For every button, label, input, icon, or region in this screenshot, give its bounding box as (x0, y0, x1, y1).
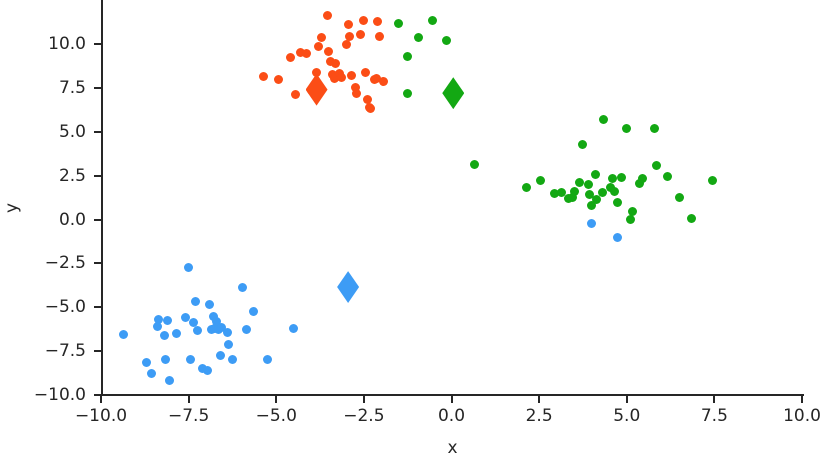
data-point-cluster_blue (161, 355, 170, 364)
centroid-marker-cluster_orange (306, 74, 328, 106)
y-tick-label: 5.0 (0, 122, 86, 142)
data-point-cluster_green (599, 115, 608, 124)
data-point-cluster_green (663, 172, 672, 181)
data-point-cluster_green (536, 176, 545, 185)
y-tick-label: −10.0 (0, 385, 86, 405)
data-point-cluster_blue (165, 376, 174, 385)
x-tick-label: 2.5 (499, 406, 579, 426)
x-tick-mark (713, 396, 715, 403)
data-point-cluster_blue (147, 369, 156, 378)
data-point-cluster_blue (242, 325, 251, 334)
data-point-cluster_green (628, 207, 637, 216)
y-axis-spine (101, 0, 103, 396)
data-point-cluster_orange (356, 30, 365, 39)
data-point-cluster_green (687, 214, 696, 223)
data-point-cluster_blue (587, 219, 596, 228)
data-point-cluster_green (622, 124, 631, 133)
data-point-cluster_blue (263, 355, 272, 364)
y-tick-mark (94, 131, 101, 133)
data-point-cluster_orange (359, 16, 368, 25)
data-point-cluster_blue (249, 307, 258, 316)
data-point-cluster_orange (331, 59, 340, 68)
data-point-cluster_green (617, 173, 626, 182)
data-point-cluster_blue (289, 324, 298, 333)
data-point-cluster_orange (302, 49, 311, 58)
data-point-cluster_orange (379, 77, 388, 86)
x-tick-mark (626, 396, 628, 403)
data-point-cluster_green (442, 36, 451, 45)
data-point-cluster_blue (119, 330, 128, 339)
data-point-cluster_orange (323, 11, 332, 20)
y-tick-mark (94, 43, 101, 45)
x-tick-mark (100, 396, 102, 403)
data-point-cluster_orange (352, 89, 361, 98)
data-point-cluster_blue (160, 331, 169, 340)
x-tick-mark (451, 396, 453, 403)
data-point-cluster_blue (238, 283, 247, 292)
data-point-cluster_orange (347, 71, 356, 80)
x-tick-label: −5.0 (236, 406, 316, 426)
data-point-cluster_blue (191, 297, 200, 306)
data-point-cluster_green (522, 183, 531, 192)
data-point-cluster_orange (314, 42, 323, 51)
x-tick-mark (275, 396, 277, 403)
x-tick-label: −2.5 (324, 406, 404, 426)
data-point-cluster_orange (345, 32, 354, 41)
data-point-cluster_green (575, 178, 584, 187)
y-tick-mark (94, 350, 101, 352)
y-tick-label: −5.0 (0, 297, 86, 317)
y-tick-label: −2.5 (0, 253, 86, 273)
x-tick-label: −7.5 (149, 406, 229, 426)
x-tick-mark (538, 396, 540, 403)
y-tick-mark (94, 175, 101, 177)
data-point-cluster_blue (181, 313, 190, 322)
data-point-cluster_blue (203, 366, 212, 375)
x-tick-label: 7.5 (674, 406, 754, 426)
data-point-cluster_green (578, 140, 587, 149)
data-point-cluster_green (591, 170, 600, 179)
x-axis-label: x (0, 438, 828, 458)
data-point-cluster_green (638, 174, 647, 183)
data-point-cluster_blue (186, 355, 195, 364)
data-point-cluster_blue (184, 263, 193, 272)
data-point-cluster_blue (154, 315, 163, 324)
data-point-cluster_green (414, 33, 423, 42)
x-tick-label: 0.0 (412, 406, 492, 426)
y-tick-mark (94, 262, 101, 264)
y-tick-label: 2.5 (0, 166, 86, 186)
data-point-cluster_orange (344, 20, 353, 29)
data-point-cluster_orange (373, 17, 382, 26)
data-point-cluster_orange (361, 68, 370, 77)
data-point-cluster_blue (142, 358, 151, 367)
x-axis-spine (101, 394, 804, 396)
data-point-cluster_orange (291, 90, 300, 99)
data-point-cluster_orange (337, 73, 346, 82)
y-tick-label: −7.5 (0, 341, 86, 361)
x-tick-mark (363, 396, 365, 403)
data-point-cluster_orange (324, 47, 333, 56)
scatter-plot-figure: −10.0−7.5−5.0−2.50.02.55.07.510.0 10.07.… (0, 0, 828, 468)
y-tick-label: 10.0 (0, 34, 86, 54)
data-point-cluster_blue (172, 329, 181, 338)
data-point-cluster_blue (216, 351, 225, 360)
data-point-cluster_green (403, 52, 412, 61)
data-point-cluster_blue (163, 316, 172, 325)
data-point-cluster_blue (193, 326, 202, 335)
y-tick-mark (94, 394, 101, 396)
centroid-marker-cluster_green (442, 77, 464, 109)
centroid-marker-cluster_blue (337, 271, 359, 303)
x-tick-label: 5.0 (587, 406, 667, 426)
data-point-cluster_orange (342, 40, 351, 49)
y-axis-label: y (2, 188, 22, 228)
data-point-cluster_green (613, 198, 622, 207)
data-point-cluster_blue (223, 328, 232, 337)
data-point-cluster_green (428, 16, 437, 25)
data-point-cluster_green (403, 89, 412, 98)
data-point-cluster_orange (259, 72, 268, 81)
data-point-cluster_green (584, 180, 593, 189)
data-point-cluster_blue (228, 355, 237, 364)
x-tick-mark (188, 396, 190, 403)
data-point-cluster_green (675, 193, 684, 202)
data-point-cluster_blue (205, 300, 214, 309)
y-tick-mark (94, 87, 101, 89)
data-point-cluster_green (708, 176, 717, 185)
data-point-cluster_green (394, 19, 403, 28)
data-point-cluster_orange (366, 104, 375, 113)
data-point-cluster_green (652, 161, 661, 170)
data-point-cluster_blue (224, 340, 233, 349)
data-point-cluster_green (626, 215, 635, 224)
data-point-cluster_green (570, 187, 579, 196)
data-point-cluster_orange (317, 33, 326, 42)
y-tick-mark (94, 219, 101, 221)
data-point-cluster_green (470, 160, 479, 169)
y-tick-mark (94, 306, 101, 308)
data-point-cluster_green (598, 188, 607, 197)
data-point-cluster_green (608, 174, 617, 183)
data-point-cluster_orange (375, 32, 384, 41)
data-point-cluster_blue (613, 233, 622, 242)
data-point-cluster_green (610, 187, 619, 196)
x-tick-label: −10.0 (61, 406, 141, 426)
data-point-cluster_orange (274, 75, 283, 84)
x-tick-mark (801, 396, 803, 403)
x-tick-label: 10.0 (762, 406, 828, 426)
data-point-cluster_orange (286, 53, 295, 62)
y-tick-label: 7.5 (0, 78, 86, 98)
data-point-cluster_green (650, 124, 659, 133)
